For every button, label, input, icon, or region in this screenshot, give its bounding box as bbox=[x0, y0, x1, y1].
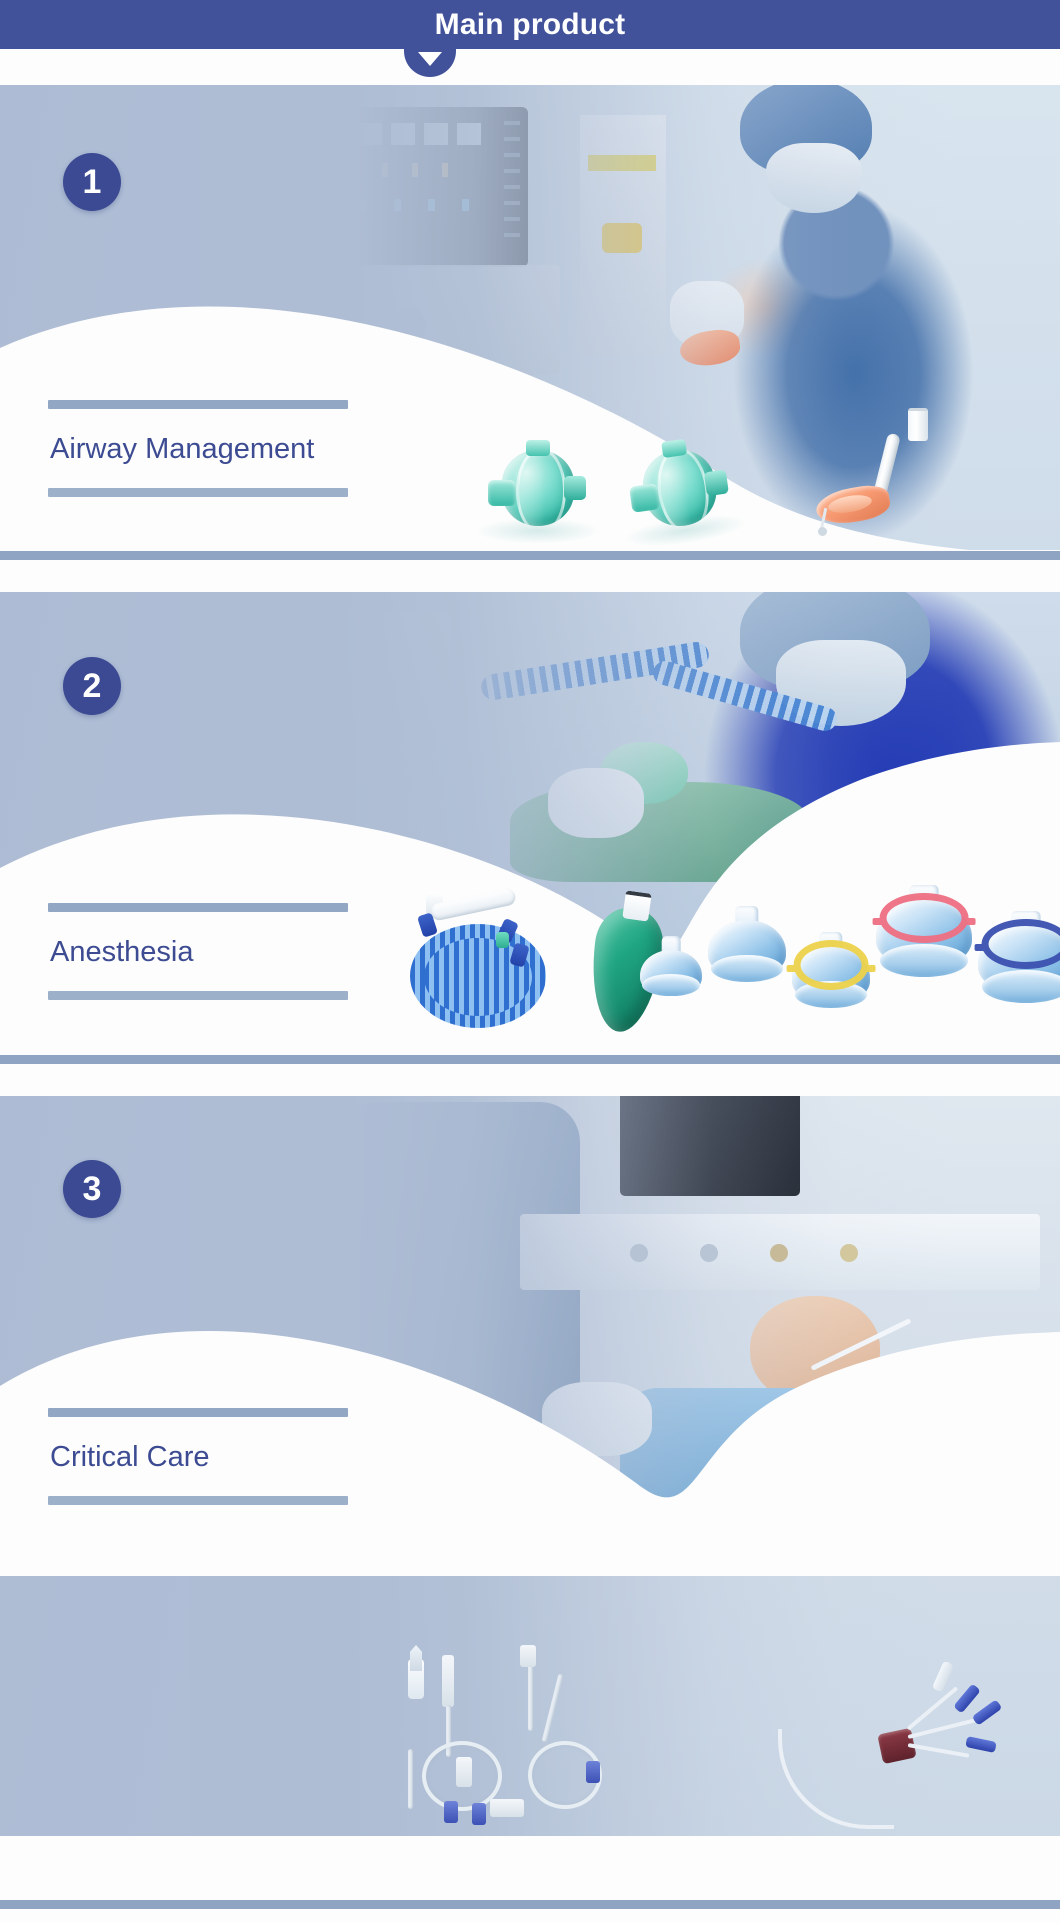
title-rule-top bbox=[48, 903, 348, 912]
card-separator-1 bbox=[0, 551, 1060, 560]
title-rule-bottom bbox=[48, 1496, 348, 1505]
hook-ring-yellow-icon bbox=[794, 940, 869, 990]
product-breathing-circuit[interactable] bbox=[396, 890, 576, 1040]
product-anesthesia-mask-size1[interactable] bbox=[640, 936, 702, 1000]
product-row-1 bbox=[486, 408, 936, 538]
product-anesthesia-mask-blue-hook[interactable] bbox=[978, 911, 1060, 1007]
product-pressure-transducer-set-1[interactable] bbox=[400, 1645, 610, 1835]
product-anesthesia-mask-yellow-hook[interactable] bbox=[792, 932, 870, 1012]
product-anesthesia-mask-size2[interactable] bbox=[708, 906, 786, 986]
product-hme-filter-2[interactable] bbox=[622, 435, 738, 545]
card-title-1: Airway Management bbox=[48, 409, 348, 488]
card-number-badge-3: 3 bbox=[63, 1160, 121, 1218]
title-rule-bottom bbox=[48, 488, 348, 497]
card-title-block-1: Airway Management bbox=[48, 400, 348, 497]
page-title: Main product bbox=[0, 0, 1060, 49]
product-row-3 bbox=[400, 1645, 1006, 1835]
product-anesthesia-mask-red-hook[interactable] bbox=[876, 885, 972, 981]
title-rule-bottom bbox=[48, 991, 348, 1000]
product-triple-lumen-cvc[interactable] bbox=[776, 1655, 1006, 1835]
card-number-badge-1: 1 bbox=[63, 153, 121, 211]
card-title-2: Anesthesia bbox=[48, 912, 348, 991]
header-banner: Main product bbox=[0, 0, 1060, 49]
product-row-2-masks bbox=[640, 898, 1060, 1012]
card-title-block-2: Anesthesia bbox=[48, 903, 348, 1000]
card-separator-3 bbox=[0, 1900, 1060, 1909]
title-rule-top bbox=[48, 400, 348, 409]
hook-ring-red-icon bbox=[880, 893, 969, 943]
product-laryngeal-mask-airway[interactable] bbox=[816, 408, 936, 538]
card-title-3: Critical Care bbox=[48, 1417, 348, 1496]
card-swoosh-curve bbox=[0, 1236, 1060, 1576]
product-row-2-circuit bbox=[396, 890, 674, 1040]
hook-ring-blue-icon bbox=[982, 919, 1060, 969]
title-rule-top bbox=[48, 1408, 348, 1417]
card-separator-2 bbox=[0, 1055, 1060, 1064]
product-hme-filter-1[interactable] bbox=[486, 442, 590, 538]
card-title-block-3: Critical Care bbox=[48, 1408, 348, 1505]
triangle-down-icon bbox=[418, 52, 442, 66]
card-number-badge-2: 2 bbox=[63, 657, 121, 715]
